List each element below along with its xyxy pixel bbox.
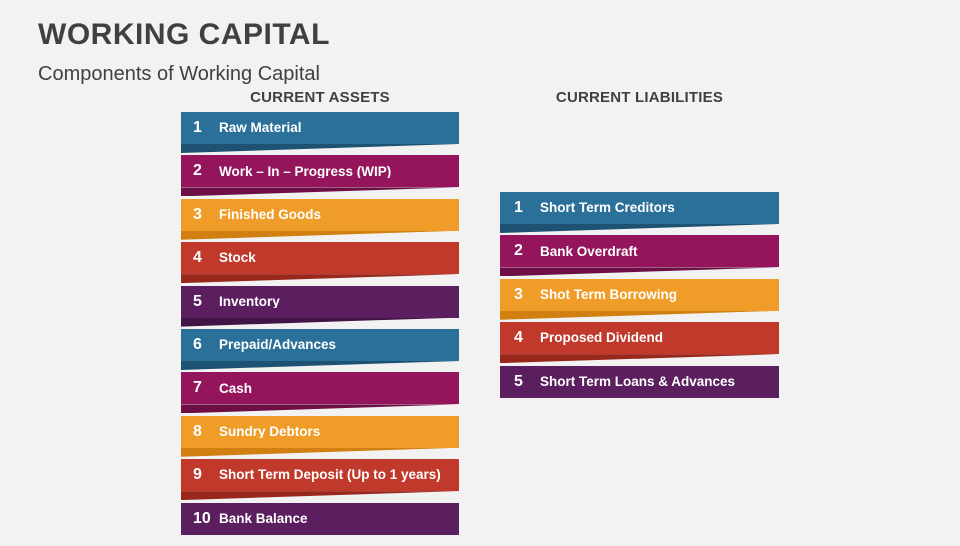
bar-banner[interactable]: 2Work – In – Progress (WIP) <box>181 155 459 187</box>
item-number: 8 <box>181 424 219 440</box>
item-label: Finished Goods <box>219 208 459 222</box>
item-label: Short Term Creditors <box>540 201 779 215</box>
bar-shadow-wedge <box>181 448 459 457</box>
item-label: Bank Overdraft <box>540 245 779 259</box>
bar-banner[interactable]: 6Prepaid/Advances <box>181 329 459 361</box>
item-label: Prepaid/Advances <box>219 338 459 352</box>
item-label: Cash <box>219 382 459 396</box>
list-item[interactable]: 3Finished Goods <box>181 199 459 242</box>
item-label: Short Term Deposit (Up to 1 years) <box>219 468 459 482</box>
column-heading-current-assets: CURRENT ASSETS <box>181 89 459 107</box>
bar-shadow-wedge <box>181 187 459 196</box>
list-item[interactable]: 1Raw Material <box>181 112 459 155</box>
list-item[interactable]: 10Bank Balance <box>181 503 459 546</box>
bar-banner[interactable]: 5Short Term Loans & Advances <box>500 366 779 398</box>
bar-banner[interactable]: 4Proposed Dividend <box>500 322 779 354</box>
list-item[interactable]: 5Short Term Loans & Advances <box>500 366 779 409</box>
list-item[interactable]: 3Shot Term Borrowing <box>500 279 779 322</box>
list-item[interactable]: 2Bank Overdraft <box>500 235 779 278</box>
bar-shadow-wedge <box>181 231 459 240</box>
item-number: 4 <box>181 250 219 266</box>
bar-shadow-wedge <box>500 354 779 363</box>
item-label: Short Term Loans & Advances <box>540 375 779 389</box>
item-label: Work – In – Progress (WIP) <box>219 165 459 179</box>
bar-banner[interactable]: 4Stock <box>181 242 459 274</box>
list-item[interactable]: 4Proposed Dividend <box>500 322 779 365</box>
list-item[interactable]: 1Short Term Creditors <box>500 192 779 235</box>
bar-shadow-wedge <box>181 404 459 413</box>
page-title: WORKING CAPITAL <box>38 17 330 53</box>
list-item[interactable]: 6Prepaid/Advances <box>181 329 459 372</box>
bar-banner[interactable]: 5Inventory <box>181 286 459 318</box>
bar-banner[interactable]: 3Shot Term Borrowing <box>500 279 779 311</box>
bar-banner[interactable]: 1Raw Material <box>181 112 459 144</box>
current-liabilities-list: 1Short Term Creditors2Bank Overdraft3Sho… <box>500 192 779 409</box>
slide-canvas: WORKING CAPITAL Components of Working Ca… <box>0 0 960 540</box>
bar-banner[interactable]: 7Cash <box>181 372 459 404</box>
item-label: Stock <box>219 251 459 265</box>
item-number: 3 <box>500 287 540 303</box>
bar-shadow-wedge <box>181 274 459 283</box>
list-item[interactable]: 2Work – In – Progress (WIP) <box>181 155 459 198</box>
bar-banner[interactable]: 1Short Term Creditors <box>500 192 779 224</box>
item-label: Proposed Dividend <box>540 331 779 345</box>
list-item[interactable]: 4Stock <box>181 242 459 285</box>
bar-banner[interactable]: 9Short Term Deposit (Up to 1 years) <box>181 459 459 491</box>
bar-banner[interactable]: 3Finished Goods <box>181 199 459 231</box>
item-label: Sundry Debtors <box>219 425 459 439</box>
item-number: 5 <box>500 374 540 390</box>
item-number: 10 <box>181 511 219 527</box>
item-label: Raw Material <box>219 121 459 135</box>
item-number: 6 <box>181 337 219 353</box>
bar-shadow-wedge <box>500 311 779 320</box>
bar-shadow-wedge <box>500 267 779 276</box>
current-assets-list: 1Raw Material2Work – In – Progress (WIP)… <box>181 112 459 546</box>
item-number: 2 <box>181 163 219 179</box>
item-label: Inventory <box>219 295 459 309</box>
bar-shadow-wedge <box>500 224 779 233</box>
item-number: 2 <box>500 243 540 259</box>
bar-shadow-wedge <box>181 318 459 327</box>
bar-shadow-wedge <box>181 491 459 500</box>
column-heading-current-liabilities: CURRENT LIABILITIES <box>500 89 779 107</box>
bar-banner[interactable]: 10Bank Balance <box>181 503 459 535</box>
item-number: 1 <box>181 120 219 136</box>
item-label: Bank Balance <box>219 512 459 526</box>
item-number: 9 <box>181 467 219 483</box>
bar-banner[interactable]: 2Bank Overdraft <box>500 235 779 267</box>
list-item[interactable]: 8Sundry Debtors <box>181 416 459 459</box>
list-item[interactable]: 9Short Term Deposit (Up to 1 years) <box>181 459 459 502</box>
list-item[interactable]: 5Inventory <box>181 286 459 329</box>
item-label: Shot Term Borrowing <box>540 288 779 302</box>
item-number: 7 <box>181 380 219 396</box>
bar-shadow-wedge <box>181 144 459 153</box>
item-number: 3 <box>181 207 219 223</box>
list-item[interactable]: 7Cash <box>181 372 459 415</box>
page-subtitle: Components of Working Capital <box>38 61 320 87</box>
bar-shadow-wedge <box>181 361 459 370</box>
bar-banner[interactable]: 8Sundry Debtors <box>181 416 459 448</box>
item-number: 5 <box>181 294 219 310</box>
item-number: 4 <box>500 330 540 346</box>
item-number: 1 <box>500 200 540 216</box>
